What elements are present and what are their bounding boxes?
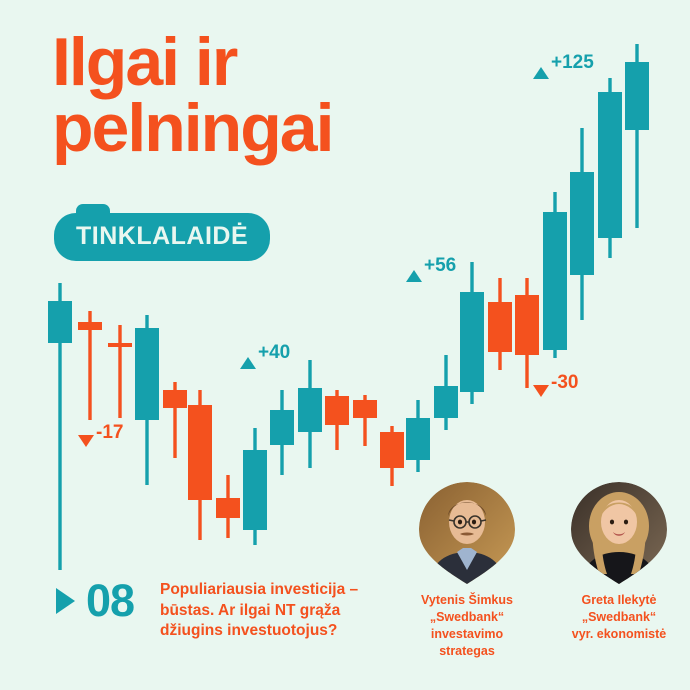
candle-body: [434, 386, 458, 418]
candle-body: [515, 295, 539, 355]
candle-body: [48, 301, 72, 343]
annotation-label: +125: [551, 53, 594, 72]
candle-body: [406, 418, 430, 460]
candle-body: [243, 450, 267, 530]
badge-tab-notch: [76, 204, 110, 218]
page-title: Ilgai ir pelningai: [52, 30, 332, 162]
candle-body: [353, 400, 377, 418]
avatar: [571, 482, 667, 584]
candle: [163, 382, 187, 458]
candle: [515, 278, 539, 388]
podcast-badge-pill: TINKLALAIDĖ: [54, 213, 270, 261]
triangle-up-icon: [240, 357, 256, 369]
chart-annotation-minus17: -17: [78, 432, 123, 451]
avatar: [419, 482, 515, 584]
candle-body: [108, 343, 132, 347]
candle-body: [188, 405, 212, 500]
speaker-card: Greta Ilekytė „Swedbank“ vyr. ekonomistė: [564, 482, 674, 660]
triangle-up-icon: [406, 270, 422, 282]
chart-annotation-plus40: +40: [240, 352, 290, 371]
episode-block[interactable]: 08: [56, 578, 134, 623]
candle: [406, 400, 430, 472]
candle: [188, 390, 212, 540]
candle: [543, 192, 567, 358]
candle-body: [163, 390, 187, 408]
candle: [460, 262, 484, 404]
speaker-card: Vytenis Šimkus „Swedbank“ investavimo st…: [412, 482, 522, 660]
candle-body: [380, 432, 404, 468]
triangle-down-icon: [78, 435, 94, 447]
candle: [216, 475, 240, 538]
speaker-name: Vytenis Šimkus „Swedbank“ investavimo st…: [412, 592, 522, 660]
annotation-label: -30: [551, 373, 578, 392]
episode-title: Populiariausia investicija – būstas. Ar …: [160, 580, 390, 642]
podcast-badge-label: TINKLALAIDĖ: [76, 222, 248, 251]
chart-annotation-plus56: +56: [406, 265, 456, 284]
speaker-list: Vytenis Šimkus „Swedbank“ investavimo st…: [412, 482, 674, 660]
candle-body: [625, 62, 649, 130]
candle: [270, 390, 294, 475]
candle: [78, 311, 102, 420]
candle-body: [298, 388, 322, 432]
candle: [570, 128, 594, 320]
candle-body: [543, 212, 567, 350]
candle-wick: [118, 325, 121, 418]
annotation-label: -17: [96, 423, 123, 442]
candle: [380, 426, 404, 486]
chart-annotation-plus125: +125: [533, 62, 594, 81]
candle: [625, 44, 649, 228]
chart-annotation-minus30: -30: [533, 382, 578, 401]
play-triangle-icon[interactable]: [56, 588, 75, 614]
triangle-up-icon: [533, 67, 549, 79]
candle: [298, 360, 322, 468]
candle: [135, 315, 159, 485]
candle: [598, 78, 622, 258]
annotation-label: +56: [424, 256, 456, 275]
candle: [434, 355, 458, 430]
candle-body: [135, 328, 159, 420]
candle: [108, 325, 132, 418]
candle: [325, 390, 349, 450]
candle: [243, 428, 267, 545]
podcast-badge: TINKLALAIDĖ: [54, 213, 270, 261]
poster-canvas: Ilgai ir pelningai TINKLALAIDĖ -17+40+56…: [0, 0, 690, 690]
candle-body: [216, 498, 240, 518]
candle: [488, 278, 512, 370]
candle-body: [270, 410, 294, 445]
episode-number: 08: [86, 578, 134, 623]
candle: [353, 395, 377, 446]
triangle-down-icon: [533, 385, 549, 397]
candle-body: [570, 172, 594, 275]
annotation-label: +40: [258, 343, 290, 362]
candle-body: [488, 302, 512, 352]
candle-body: [460, 292, 484, 392]
candle-body: [78, 322, 102, 330]
speaker-name: Greta Ilekytė „Swedbank“ vyr. ekonomistė: [564, 592, 674, 643]
candle-body: [598, 92, 622, 238]
candle-body: [325, 396, 349, 425]
candle: [48, 283, 72, 570]
